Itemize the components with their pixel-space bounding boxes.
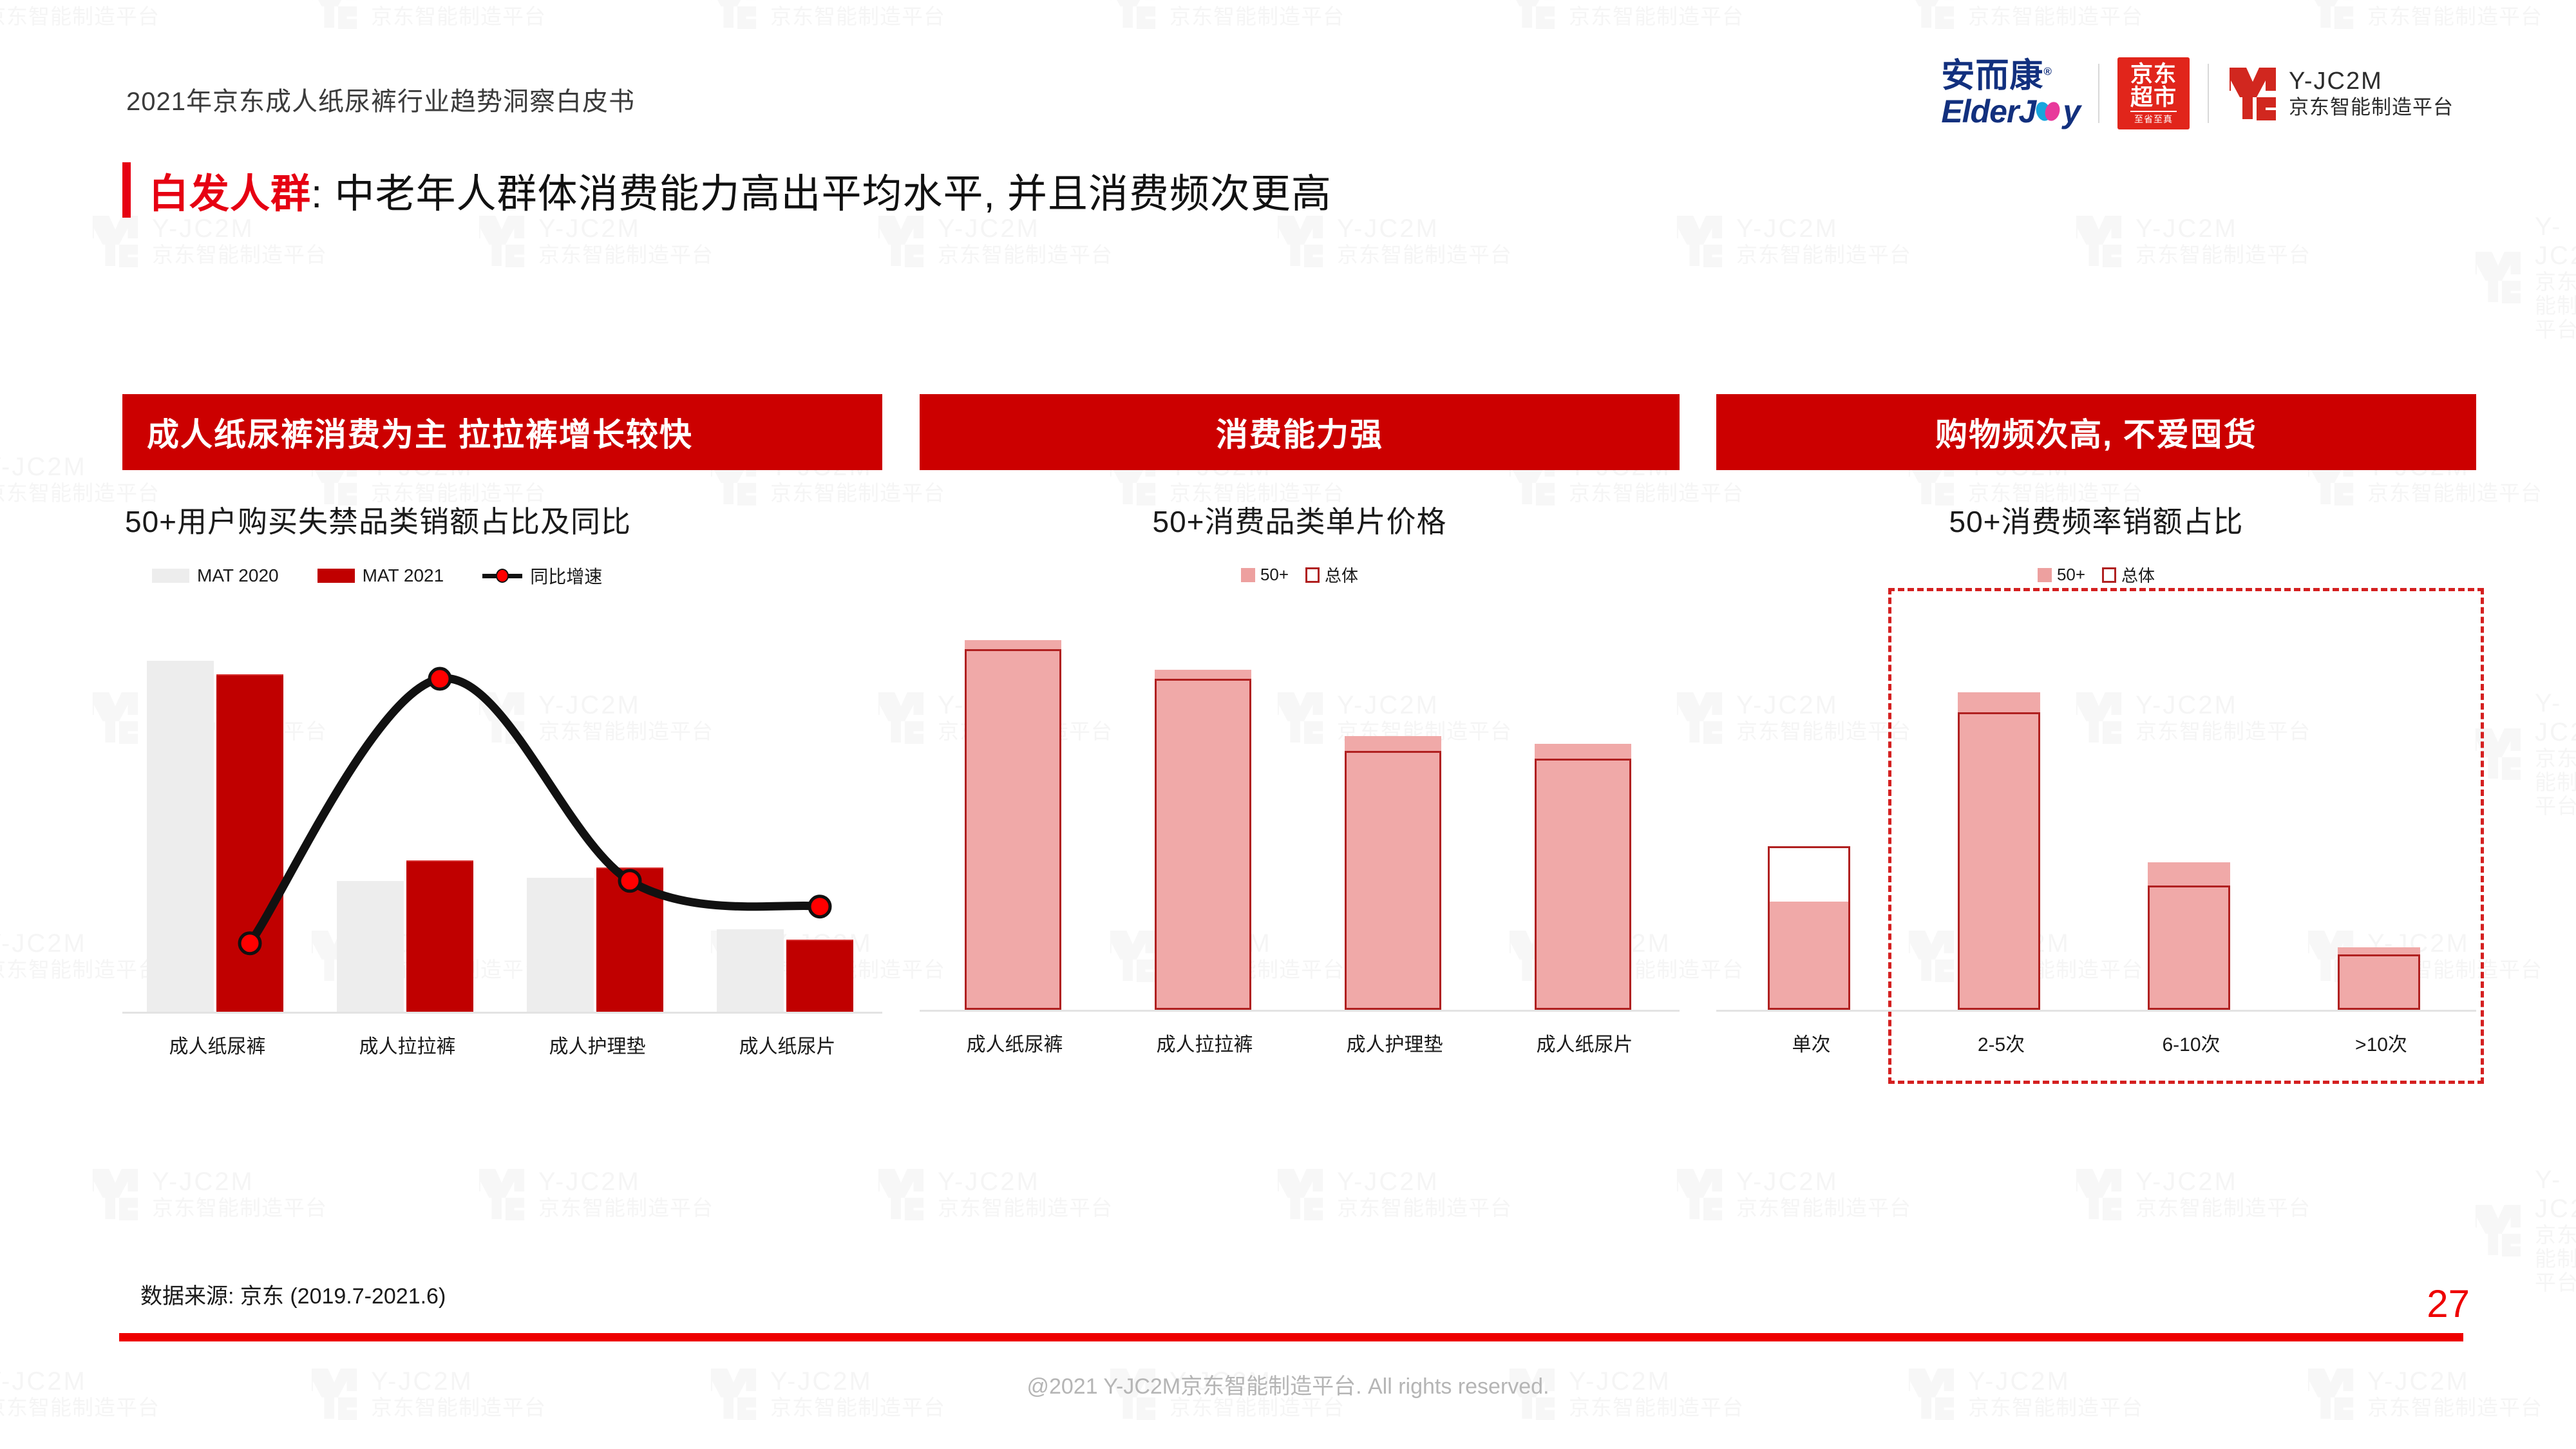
bar-group (1906, 612, 2096, 1010)
watermark-tile: Y-JC2M京东智能制造平台 (2074, 213, 2311, 269)
legend-item-mat2021[interactable]: MAT 2021 (317, 565, 444, 586)
pink-square-icon (1241, 568, 1255, 582)
watermark-tile: Y-JC2M京东智能制造平台 (876, 1166, 1113, 1222)
watermark-tile: Y-JC2M京东智能制造平台 (1275, 213, 1512, 269)
watermark-tile: Y-JC2M京东智能制造平台 (477, 1166, 714, 1222)
panel-1-subtitle: 50+用户购买失禁品类销额占比及同比 (122, 498, 882, 541)
panel-1-banner: 成人纸尿裤消费为主 拉拉裤增长较快 (122, 394, 882, 470)
slide-title-row: 白发人群: 中老年人群体消费能力高出平均水平, 并且消费频次更高 (122, 161, 1332, 219)
footer-rule (119, 1333, 2463, 1341)
slide-title-rest: : 中老年人群体消费能力高出平均水平, 并且消费频次更高 (311, 172, 1332, 216)
x-axis-label: 6-10次 (2096, 1012, 2286, 1057)
panel-2-banner: 消费能力强 (920, 394, 1680, 470)
elderjoy-logo: 安而康® ElderJy (1941, 59, 2080, 128)
watermark-tile: Y-JC2M京东智能制造平台 (90, 213, 327, 269)
chart-3-plot: 单次2-5次6-10次>10次 (1716, 612, 2476, 1012)
title-accent-bar (122, 162, 131, 218)
x-axis-label: 成人纸尿裤 (122, 1014, 312, 1059)
slide-title: 白发人群: 中老年人群体消费能力高出平均水平, 并且消费频次更高 (149, 161, 1332, 219)
line-data-point[interactable] (810, 896, 830, 917)
line-data-point[interactable] (620, 871, 640, 891)
panel-3-subtitle: 50+消费频率销额占比 (1716, 498, 2476, 541)
x-axis-label: 成人纸尿片 (1490, 1012, 1680, 1057)
chart-3-x-axis-labels: 单次2-5次6-10次>10次 (1716, 1012, 2476, 1057)
chart-2-x-axis-labels: 成人纸尿裤成人拉拉裤成人护理垫成人纸尿片 (920, 1012, 1680, 1057)
x-axis-label: >10次 (2286, 1012, 2476, 1057)
yjc2m-en-label: Y-JC2M (2289, 68, 2454, 96)
copyright-note: @2021 Y-JC2M京东智能制造平台. All rights reserve… (0, 1368, 2576, 1400)
x-axis-label: 成人护理垫 (1300, 1012, 1490, 1057)
bar-overall[interactable] (2148, 885, 2230, 1010)
bar-overall[interactable] (1768, 846, 1850, 1010)
bar-group (920, 612, 1110, 1010)
panel-2-subtitle: 50+消费品类单片价格 (920, 498, 1680, 541)
chart-2-bars (920, 612, 1680, 1010)
watermark-tile: Y-JC2M京东智能制造平台 (1275, 1166, 1512, 1222)
watermark-tile: Y-JC2M京东智能制造平台 (90, 1166, 327, 1222)
chart-1-x-axis-labels: 成人纸尿裤成人拉拉裤成人护理垫成人纸尿片 (122, 1014, 882, 1059)
yjc2m-mark-icon (2227, 65, 2278, 122)
legend-label: 总体 (1325, 563, 1358, 587)
panel-1-legend: MAT 2020 MAT 2021 同比增速 (122, 563, 882, 589)
yjc2m-logo-text: Y-JC2M 京东智能制造平台 (2289, 68, 2454, 118)
line-marker-icon (482, 569, 522, 583)
x-axis-label: 成人拉拉裤 (312, 1014, 502, 1059)
data-source-note: 数据来源: 京东 (2019.7-2021.6) (140, 1278, 446, 1310)
bar-group (1490, 612, 1680, 1010)
bar-overall[interactable] (1958, 712, 2040, 1010)
x-axis-label: 成人纸尿裤 (920, 1012, 1110, 1057)
panel-unit-price: 消费能力强 50+消费品类单片价格 50+ 总体 成人纸尿裤成人拉拉裤成人护理垫… (920, 394, 1680, 1012)
watermark-tile: Y-JC2M京东智能制造平台 (477, 213, 714, 269)
bar-overall[interactable] (2338, 954, 2420, 1010)
bar-group (1716, 612, 1906, 1010)
hollow-square-icon (1305, 567, 1320, 583)
legend-item-mat2020[interactable]: MAT 2020 (152, 565, 279, 586)
document-title: 2021年京东成人纸尿裤行业趋势洞察白皮书 (126, 80, 635, 118)
x-axis-label: 2-5次 (1906, 1012, 2096, 1057)
hollow-square-icon (2102, 567, 2116, 583)
panel-purchase-frequency: 购物频次高, 不爱囤货 50+消费频率销额占比 50+ 总体 单次2-5次6-1… (1716, 394, 2476, 1012)
panel-3-legend: 50+ 总体 (1716, 563, 2476, 587)
bar-overall[interactable] (1535, 759, 1631, 1010)
chart-1-line-overlay (122, 614, 882, 1014)
watermark-tile: Y-JC2M京东智能制造平台 (2473, 689, 2576, 818)
panel-3-banner: 购物频次高, 不爱囤货 (1716, 394, 2476, 470)
legend-item-overall[interactable]: 总体 (1305, 563, 1358, 587)
x-axis-label: 成人护理垫 (502, 1014, 692, 1059)
jd-sm-line3: 至省至真 (2134, 115, 2173, 124)
watermark-tile: Y-JC2M京东智能制造平台 (2473, 213, 2576, 341)
logo-bar: 安而康® ElderJy 京东 超市 至省至真 Y-JC2M 京东智能制造平台 (1941, 55, 2454, 132)
legend-label: 同比增速 (530, 563, 602, 589)
watermark-tile: Y-JC2M京东智能制造平台 (876, 213, 1113, 269)
elderjoy-en-prefix: Elder (1941, 95, 2018, 128)
chart-2-plot: 成人纸尿裤成人拉拉裤成人护理垫成人纸尿片 (920, 612, 1680, 1012)
x-axis-label: 成人纸尿片 (692, 1014, 882, 1059)
bar-overall[interactable] (1155, 679, 1251, 1010)
jd-supermarket-logo: 京东 超市 至省至真 (2117, 57, 2190, 129)
growth-rate-line (250, 678, 820, 943)
logo-divider (2098, 64, 2099, 123)
chart-1-plot: 成人纸尿裤成人拉拉裤成人护理垫成人纸尿片 (122, 614, 882, 1014)
bar-group (1110, 612, 1300, 1010)
watermark-tile: Y-JC2M京东智能制造平台 (2473, 1166, 2576, 1294)
line-data-point[interactable] (430, 668, 450, 689)
legend-label: 总体 (2121, 563, 2155, 587)
bar-group (2096, 612, 2286, 1010)
legend-item-growth[interactable]: 同比增速 (482, 563, 602, 589)
yjc2m-cn-label: 京东智能制造平台 (2289, 96, 2454, 119)
gray-square-icon (152, 569, 189, 583)
logo-divider (2208, 64, 2209, 123)
bar-overall[interactable] (965, 649, 1061, 1010)
jd-sm-line1: 京东 (2130, 63, 2177, 86)
x-axis-label: 单次 (1716, 1012, 1906, 1057)
elderjoy-en-suffix: y (2063, 95, 2080, 128)
bar-group (1300, 612, 1490, 1010)
page-header: 2021年京东成人纸尿裤行业趋势洞察白皮书 安而康® ElderJy 京东 超市… (0, 0, 2576, 148)
legend-label: 50+ (2057, 565, 2085, 585)
jd-sm-line2: 超市 (2130, 86, 2177, 112)
elderjoy-cn-label: 安而康 (1941, 57, 2043, 95)
watermark-tile: Y-JC2M京东智能制造平台 (2074, 1166, 2311, 1222)
yjc2m-logo: Y-JC2M 京东智能制造平台 (2227, 65, 2454, 122)
panel-incontinence-share: 成人纸尿裤消费为主 拉拉裤增长较快 50+用户购买失禁品类销额占比及同比 MAT… (122, 394, 882, 1014)
legend-item-50plus[interactable]: 50+ (2038, 565, 2085, 585)
slide-title-highlight: 白发人群 (149, 172, 311, 216)
panel-2-legend: 50+ 总体 (920, 563, 1680, 587)
watermark-tile: Y-JC2M京东智能制造平台 (1674, 213, 1911, 269)
elderjoy-en-j: J (2018, 95, 2036, 128)
legend-label: MAT 2021 (363, 565, 444, 586)
registered-icon: ® (2043, 66, 2052, 78)
pink-square-icon (2038, 568, 2052, 582)
legend-item-50plus[interactable]: 50+ (1241, 565, 1289, 585)
x-axis-label: 成人拉拉裤 (1110, 1012, 1300, 1057)
page-number: 27 (2427, 1282, 2470, 1326)
legend-label: MAT 2020 (197, 565, 279, 586)
red-square-icon (317, 569, 355, 583)
legend-item-overall[interactable]: 总体 (2102, 563, 2155, 587)
chart-3-bars (1716, 612, 2476, 1010)
watermark-tile: Y-JC2M京东智能制造平台 (1674, 1166, 1911, 1222)
heart-icon (2036, 99, 2062, 124)
bar-group (2286, 612, 2476, 1010)
legend-label: 50+ (1260, 565, 1289, 585)
line-data-point[interactable] (240, 933, 260, 954)
bar-overall[interactable] (1345, 751, 1441, 1010)
